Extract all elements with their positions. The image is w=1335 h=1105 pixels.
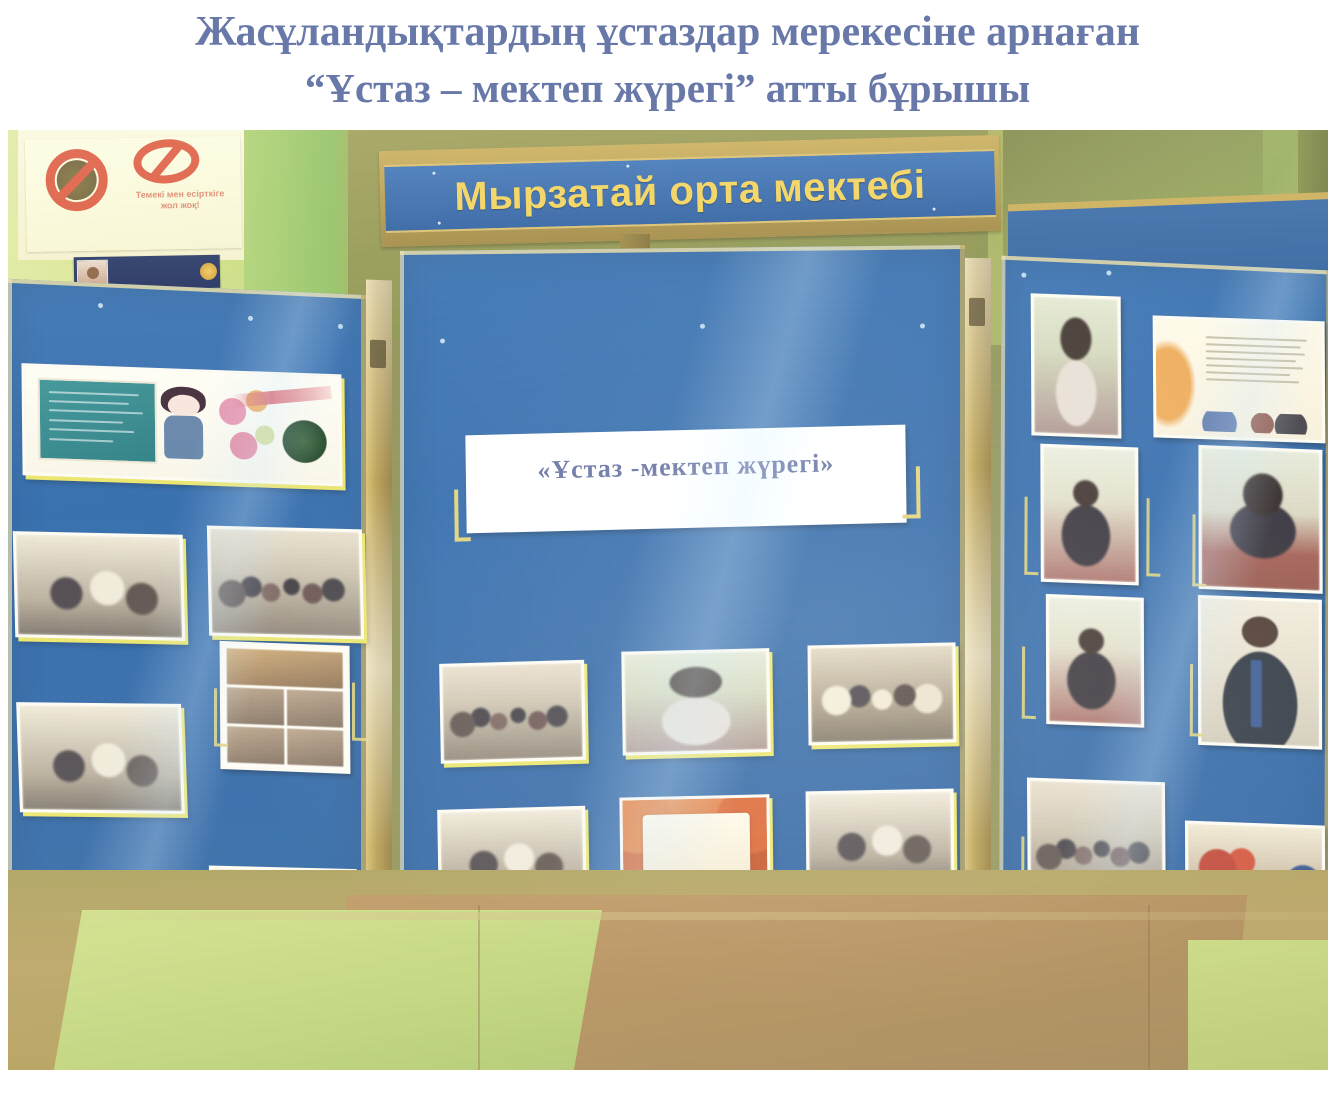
floor <box>8 870 1328 1070</box>
title-line-1: Жасұландықтардың ұстаздар мерекесіне арн… <box>195 4 1140 60</box>
plaque-seal-icon <box>200 263 217 280</box>
anti-smoking-poster: Темекі мен есірткіге жол жоқ! <box>25 136 242 252</box>
no-drugs-icon <box>132 137 202 187</box>
screw-dot <box>933 208 936 211</box>
poster-caption: Темекі мен есірткіге жол жоқ! <box>130 188 230 212</box>
screw-dot <box>626 165 629 168</box>
baseboard <box>8 912 1328 920</box>
page-title: Жасұландықтардың ұстаздар мерекесіне арн… <box>0 0 1335 128</box>
screw-dot <box>432 172 435 175</box>
title-line-2: “Ұстаз – мектеп жүрегі” атты бұрышы <box>305 60 1030 116</box>
school-name-banner: Мырзатай орта мектебі <box>384 149 996 233</box>
school-name-banner-frame: Мырзатай орта мектебі <box>379 135 1001 247</box>
page-root: Жасұландықтардың ұстаздар мерекесіне арн… <box>0 0 1335 1105</box>
school-name-text: Мырзатай орта мектебі <box>454 162 926 219</box>
no-smoking-icon <box>45 148 108 211</box>
plaque-label <box>112 272 196 273</box>
display-board-photograph: Темекі мен есірткіге жол жоқ! Мырзатай о… <box>8 130 1328 1070</box>
floor-green-area-right <box>1188 940 1328 1070</box>
screw-dot <box>438 222 441 225</box>
floor-green-area <box>54 910 602 1070</box>
